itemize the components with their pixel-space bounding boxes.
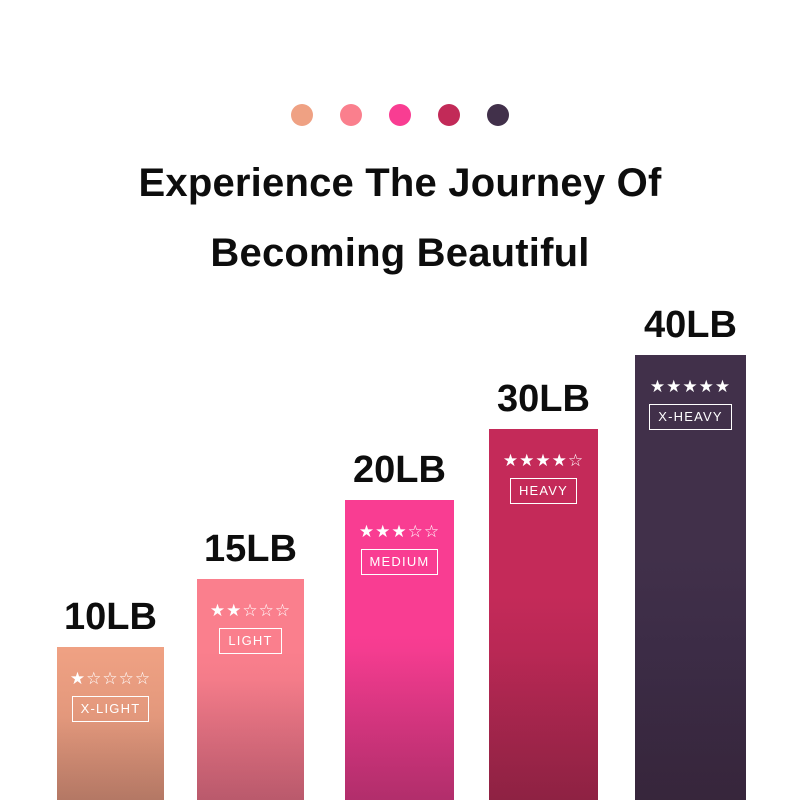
bar-group: ★☆☆☆☆X-LIGHT10LB: [57, 647, 164, 800]
bar-weight-label: 40LB: [644, 306, 737, 344]
rating-stars-icon: ★★★☆☆: [359, 522, 440, 542]
resistance-level-bar-chart: ★☆☆☆☆X-LIGHT10LB★★☆☆☆LIGHT15LB★★★☆☆MEDIU…: [0, 0, 800, 800]
bar-group: ★★★☆☆MEDIUM20LB: [345, 500, 454, 800]
resistance-level-badge: HEAVY: [510, 478, 577, 504]
bar-rect[interactable]: ★★★★★X-HEAVY: [635, 355, 746, 800]
rating-stars-icon: ★★★★★: [650, 377, 731, 397]
rating-stars-icon: ★★☆☆☆: [210, 601, 291, 621]
resistance-level-badge: LIGHT: [219, 628, 281, 654]
bar-content: ★★☆☆☆LIGHT: [197, 601, 304, 654]
bar-rect[interactable]: ★★★☆☆MEDIUM: [345, 500, 454, 800]
rating-stars-icon: ★★★★☆: [503, 451, 584, 471]
bar-rect[interactable]: ★☆☆☆☆X-LIGHT: [57, 647, 164, 800]
bar-weight-label: 15LB: [204, 530, 297, 568]
bar-content: ★☆☆☆☆X-LIGHT: [57, 669, 164, 722]
resistance-level-badge: X-HEAVY: [649, 404, 732, 430]
bar-bottom-shade: [197, 650, 304, 800]
bar-bottom-shade: [635, 650, 746, 800]
bar-weight-label: 20LB: [353, 451, 446, 489]
bar-group: ★★★★★X-HEAVY40LB: [635, 355, 746, 800]
bar-weight-label: 30LB: [497, 380, 590, 418]
bar-rect[interactable]: ★★☆☆☆LIGHT: [197, 579, 304, 800]
bar-rect[interactable]: ★★★★☆HEAVY: [489, 429, 598, 800]
bar-content: ★★★★☆HEAVY: [489, 451, 598, 504]
rating-stars-icon: ★☆☆☆☆: [70, 669, 151, 689]
bar-content: ★★★☆☆MEDIUM: [345, 522, 454, 575]
bar-weight-label: 10LB: [64, 598, 157, 636]
bar-bottom-shade: [345, 650, 454, 800]
bar-group: ★★☆☆☆LIGHT15LB: [197, 579, 304, 800]
product-infographic-poster: Experience The Journey Of Becoming Beaut…: [0, 0, 800, 800]
bar-group: ★★★★☆HEAVY30LB: [489, 429, 598, 800]
bar-content: ★★★★★X-HEAVY: [635, 377, 746, 430]
bar-bottom-shade: [489, 650, 598, 800]
resistance-level-badge: X-LIGHT: [72, 696, 150, 722]
resistance-level-badge: MEDIUM: [361, 549, 439, 575]
